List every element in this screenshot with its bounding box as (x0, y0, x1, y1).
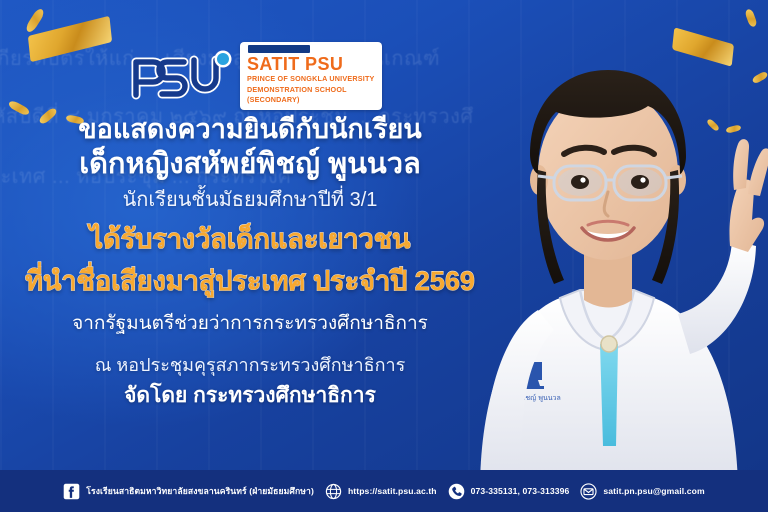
badge-subtitle-1: PRINCE OF SONGKLA UNIVERSITY (247, 74, 375, 84)
venue: ณ หอประชุมคุรุสภากระทรวงศึกษาธิการ (0, 351, 500, 380)
footer-facebook[interactable]: โรงเรียนสาธิตมหาวิทยาลัยสงขลานครินทร์ (ฝ… (63, 483, 314, 500)
organizer: จัดโดย กระทรวงศึกษาธิการ (0, 380, 500, 412)
footer-phone-text: 073-335131, 073-313396 (471, 486, 570, 496)
psu-logo-icon (122, 45, 234, 103)
student-grade: นักเรียนชั้นมัธยมศึกษาปีที่ 3/1 (0, 184, 500, 216)
phone-icon (448, 483, 465, 500)
footer-contact-bar: โรงเรียนสาธิตมหาวิทยาลัยสงขลานครินทร์ (ฝ… (0, 470, 768, 512)
footer-facebook-text: โรงเรียนสาธิตมหาวิทยาลัยสงขลานครินทร์ (ฝ… (86, 484, 314, 498)
facebook-icon (63, 483, 80, 500)
footer-website[interactable]: https://satit.psu.ac.th (325, 483, 437, 500)
badge-subtitle-2: DEMONSTRATION SCHOOL (247, 85, 375, 95)
brand-logo: SATIT PSU PRINCE OF SONGKLA UNIVERSITY D… (122, 38, 382, 110)
award-line-1: ได้รับรางวัลเด็กและเยาวชน (0, 222, 500, 258)
presented-by: จากรัฐมนตรีช่วยว่าการกระทรวงศึกษาธิการ (0, 309, 500, 339)
headline: ขอแสดงความยินดีกับนักเรียน (0, 112, 500, 146)
poster-text-block: ขอแสดงความยินดีกับนักเรียน เด็กหญิงสหัพย… (0, 112, 500, 411)
footer-email[interactable]: satit.pn.psu@gmail.com (580, 483, 704, 500)
footer-phone[interactable]: 073-335131, 073-313396 (448, 483, 570, 500)
badge-subtitle-3: (SECONDARY) (247, 95, 375, 105)
badge-title: SATIT PSU (247, 55, 375, 73)
student-name: เด็กหญิงสหัพย์พิชญ์ พูนนวล (0, 146, 500, 184)
globe-icon (325, 483, 342, 500)
mail-icon (580, 483, 597, 500)
award-line-2: ที่นำชื่อเสียงมาสู่ประเทศ ประจำปี 2569 (0, 264, 500, 300)
satit-psu-badge: SATIT PSU PRINCE OF SONGKLA UNIVERSITY D… (240, 42, 382, 110)
badge-bar (248, 45, 310, 53)
footer-email-text: satit.pn.psu@gmail.com (603, 486, 704, 496)
footer-website-text: https://satit.psu.ac.th (348, 486, 437, 496)
poster-canvas: เกียรติบัตรให้แก่ ... เสียงมาสู่ประเทศ .… (0, 0, 768, 512)
